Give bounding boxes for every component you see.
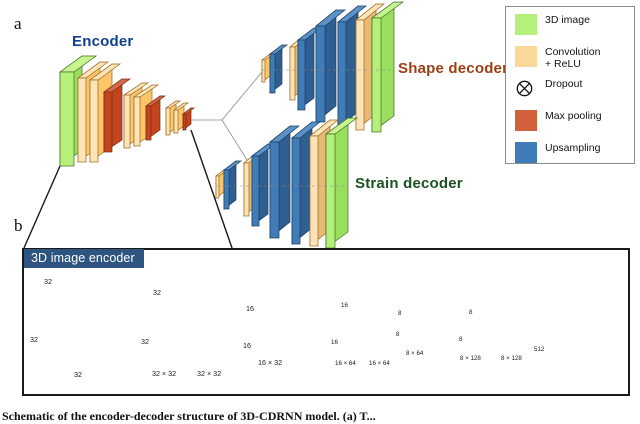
legend-box: 3D image Convolution + ReLU Dropout Max … <box>505 6 635 164</box>
dim-conv1-bottom: 32 × 32 <box>152 369 176 378</box>
dim-conv5-bottom: 8 × 128 <box>460 355 481 362</box>
strain-decoder-stack <box>216 118 357 248</box>
legend-label-dropout: Dropout <box>545 78 582 91</box>
encoder-stack <box>60 56 194 166</box>
panel-b-title-tab: 3D image encoder <box>24 249 144 268</box>
dim-conv3-top: 16 <box>341 302 348 309</box>
figure-canvas: a b Encoder Shape decoder Strain decoder <box>0 0 640 424</box>
legend-item-upsampling: Upsampling <box>515 142 628 168</box>
legend-item-dropout: Dropout <box>515 78 628 104</box>
upsampling-swatch <box>515 142 537 163</box>
dim-pool3-bottom: 512 <box>534 346 544 353</box>
dim-conv5-top: 8 <box>469 309 472 316</box>
max-pooling-swatch <box>515 110 537 131</box>
dim-conv5-left: 8 <box>459 336 462 343</box>
dim-conv1-left: 32 <box>141 337 149 346</box>
dim-pool1-left: 16 <box>243 341 251 350</box>
dim-pool1-top: 16 <box>246 304 254 313</box>
panel-b-frame <box>22 248 630 396</box>
dim-conv2-bottom: 32 × 32 <box>197 369 221 378</box>
legend-item-max-pooling: Max pooling <box>515 110 628 136</box>
dim-pool1-bottom: 16 × 32 <box>258 358 282 367</box>
legend-label-convolution-line1: Convolution <box>545 47 600 59</box>
3d-image-swatch <box>515 14 537 35</box>
dim-conv1-top: 32 <box>153 288 161 297</box>
legend-label-upsampling: Upsampling <box>545 142 600 155</box>
dropout-icon <box>515 78 537 99</box>
dim-input-top: 32 <box>44 277 52 286</box>
latent-branch-connectors <box>191 72 262 168</box>
legend-label-max-pooling: Max pooling <box>545 110 602 123</box>
shape-decoder-stack <box>262 2 403 132</box>
dim-input-bottom: 32 <box>74 370 82 379</box>
legend-label-convolution: Convolution + ReLU <box>545 46 600 70</box>
convolution-swatch <box>515 46 537 67</box>
dim-pool2-left: 8 <box>396 331 399 338</box>
dim-conv6-bottom: 8 × 128 <box>501 355 522 362</box>
dim-conv3-left: 16 <box>331 339 338 346</box>
dim-pool2-top: 8 <box>398 310 401 317</box>
legend-label-convolution-line2: + ReLU <box>545 59 600 71</box>
legend-label-3d-image: 3D image <box>545 14 590 27</box>
legend-item-3d-image: 3D image <box>515 14 628 40</box>
dim-conv3-bottom: 16 × 64 <box>335 360 356 367</box>
figure-caption: Schematic of the encoder-decoder structu… <box>2 409 638 424</box>
dim-pool2-bottom: 8 × 64 <box>406 350 423 357</box>
legend-item-convolution: Convolution + ReLU <box>515 46 628 72</box>
dim-conv4-bottom: 16 × 64 <box>369 360 390 367</box>
dim-input-left: 32 <box>30 335 38 344</box>
